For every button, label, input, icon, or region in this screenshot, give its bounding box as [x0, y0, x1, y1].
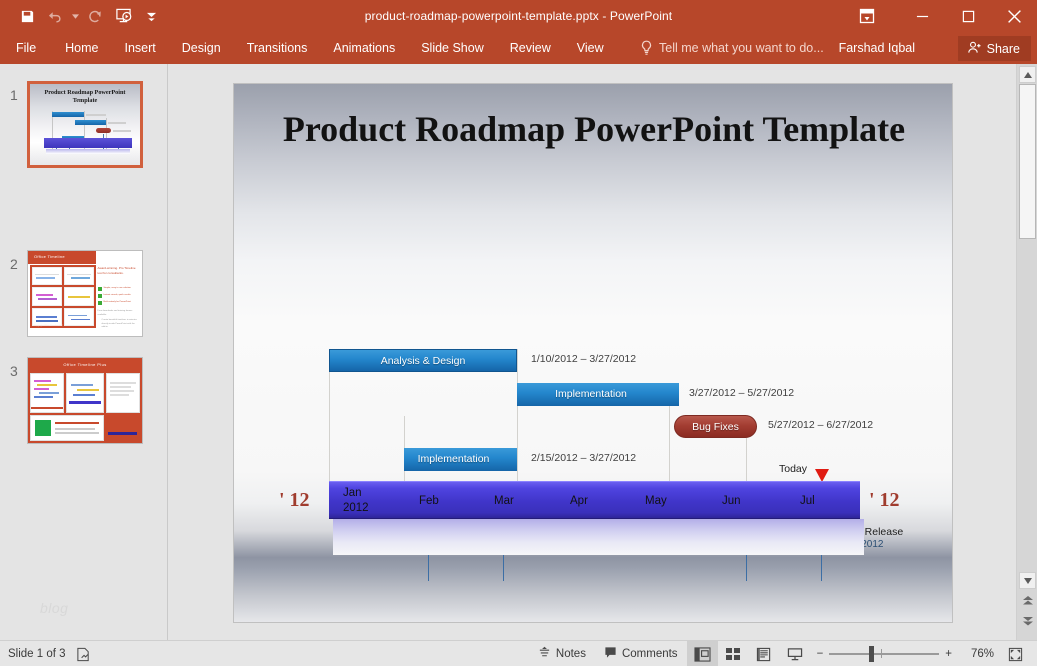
- task-label: Implementation: [555, 388, 627, 400]
- thumbnail-number-3: 3: [10, 363, 18, 379]
- gantt-chart: Analysis & Design 1/10/2012 – 3/27/2012 …: [234, 84, 953, 623]
- tab-home[interactable]: Home: [52, 32, 111, 64]
- minimize-icon[interactable]: [899, 0, 945, 32]
- notes-icon: [538, 646, 551, 662]
- zoom-slider-track: [829, 653, 939, 655]
- axis-month-jun: Jun: [722, 482, 741, 520]
- status-bar: Slide 1 of 3 Notes Comments: [0, 640, 1037, 666]
- task-date-range-1: 3/27/2012 – 5/27/2012: [689, 387, 794, 399]
- normal-view-button[interactable]: [687, 641, 718, 666]
- axis-year-right: ' 12: [869, 489, 900, 512]
- fit-slide-to-window-button[interactable]: [1000, 641, 1031, 666]
- comment-icon: [604, 646, 617, 662]
- tab-design[interactable]: Design: [169, 32, 234, 64]
- user-account-name[interactable]: Farshad Iqbal: [839, 32, 915, 64]
- maximize-icon[interactable]: [945, 0, 991, 32]
- tab-review[interactable]: Review: [497, 32, 564, 64]
- tab-file[interactable]: File: [0, 32, 52, 64]
- powerpoint-window: product-roadmap-powerpoint-template.pptx…: [0, 0, 1037, 666]
- axis-month-feb: Feb: [419, 482, 439, 520]
- task-date-range-0: 1/10/2012 – 3/27/2012: [531, 353, 636, 365]
- task-bar-implementation-1[interactable]: Implementation: [517, 383, 679, 406]
- axis-year-left: ' 12: [279, 489, 310, 512]
- zoom-in-icon: +: [945, 648, 952, 660]
- task-label: Analysis & Design: [381, 355, 466, 367]
- notes-label: Notes: [556, 648, 586, 660]
- thumbnail-image-2[interactable]: Office Timeline Copyright Office Timelin…: [27, 250, 143, 337]
- notes-button[interactable]: Notes: [529, 641, 595, 666]
- thumbnail-image-3[interactable]: Office Timeline Plus: [27, 357, 143, 444]
- tab-view[interactable]: View: [564, 32, 617, 64]
- task-bar-analysis-design[interactable]: Analysis & Design: [329, 349, 517, 372]
- share-person-icon: [967, 40, 982, 58]
- thumbnail-number-1: 1: [10, 87, 18, 103]
- slide-counter[interactable]: Slide 1 of 3: [8, 648, 66, 660]
- zoom-percent[interactable]: 76%: [958, 648, 1000, 660]
- slide-canvas-area: Product Roadmap PowerPoint Template Anal…: [168, 64, 1016, 640]
- comments-label: Comments: [622, 648, 678, 660]
- reading-view-button[interactable]: [749, 641, 780, 666]
- ribbon-tab-bar: File Home Insert Design Transitions Anim…: [0, 32, 1037, 64]
- thumb3-logo: Office Timeline Plus: [63, 362, 106, 367]
- tab-insert[interactable]: Insert: [112, 32, 169, 64]
- thumbnail-image-1[interactable]: Product Roadmap PowerPoint Template: [27, 81, 143, 168]
- tab-slide-show[interactable]: Slide Show: [408, 32, 497, 64]
- next-slide-button[interactable]: [1020, 614, 1035, 629]
- zoom-slider-midpoint: [881, 649, 882, 658]
- thumb2-logo: Office Timeline: [34, 254, 65, 259]
- tell-me-search[interactable]: Tell me what you want to do...: [640, 32, 824, 64]
- scrollbar-thumb[interactable]: [1019, 84, 1036, 239]
- vertical-scrollbar[interactable]: [1016, 64, 1037, 640]
- window-controls: [847, 0, 1037, 32]
- previous-slide-button[interactable]: [1020, 593, 1035, 608]
- axis-month-jul: Jul: [800, 482, 815, 520]
- axis-reflection: [333, 519, 864, 555]
- ribbon-display-options-icon[interactable]: [847, 0, 887, 32]
- thumb1-title: Product Roadmap PowerPoint Template: [36, 89, 134, 105]
- zoom-in-button[interactable]: +: [939, 641, 958, 666]
- thumbnail-number-2: 2: [10, 256, 18, 272]
- zoom-slider[interactable]: [829, 641, 939, 666]
- task-bar-bug-fixes[interactable]: Bug Fixes: [674, 415, 757, 438]
- tab-transitions[interactable]: Transitions: [234, 32, 321, 64]
- timeline-axis[interactable]: Jan 2012 Feb Mar Apr May Jun Jul: [329, 481, 860, 519]
- share-label: Share: [987, 42, 1020, 56]
- scroll-down-button[interactable]: [1019, 572, 1036, 589]
- today-label: Today: [779, 463, 807, 475]
- status-left: Slide 1 of 3: [8, 641, 91, 666]
- axis-month-mar: Mar: [494, 482, 514, 520]
- accessibility-checker-icon[interactable]: [76, 647, 91, 662]
- ribbon-tabs: File Home Insert Design Transitions Anim…: [0, 32, 617, 64]
- task-date-range-2: 5/27/2012 – 6/27/2012: [768, 419, 873, 431]
- slide-thumbnail-pane[interactable]: 1 Product Roadmap PowerPoint Template: [0, 64, 168, 640]
- lightbulb-icon: [640, 40, 653, 56]
- gridline: [517, 349, 518, 481]
- axis-month-apr: Apr: [570, 482, 588, 520]
- task-bar-implementation-2[interactable]: Implementation: [404, 448, 517, 471]
- axis-month-may: May: [645, 482, 667, 520]
- tab-animations[interactable]: Animations: [320, 32, 408, 64]
- work-area: 1 Product Roadmap PowerPoint Template: [0, 64, 1037, 640]
- slide-sorter-view-button[interactable]: [718, 641, 749, 666]
- zoom-slider-thumb[interactable]: [869, 646, 874, 662]
- tell-me-text: Tell me what you want to do...: [659, 41, 824, 55]
- zoom-out-button[interactable]: −: [811, 641, 830, 666]
- title-bar: product-roadmap-powerpoint-template.pptx…: [0, 0, 1037, 32]
- task-label: Bug Fixes: [692, 421, 739, 433]
- close-icon[interactable]: [991, 0, 1037, 32]
- comments-button[interactable]: Comments: [595, 641, 687, 666]
- slide-show-button[interactable]: [780, 641, 811, 666]
- zoom-out-icon: −: [817, 648, 824, 660]
- task-label: Implementation: [418, 453, 490, 465]
- task-date-range-3: 2/15/2012 – 3/27/2012: [531, 452, 636, 464]
- share-button[interactable]: Share: [958, 36, 1031, 61]
- slide-1-canvas[interactable]: Product Roadmap PowerPoint Template Anal…: [233, 83, 953, 623]
- status-right: Notes Comments −: [529, 641, 1031, 666]
- thumbnail-watermark: blog: [40, 600, 68, 616]
- scroll-up-button[interactable]: [1019, 66, 1036, 83]
